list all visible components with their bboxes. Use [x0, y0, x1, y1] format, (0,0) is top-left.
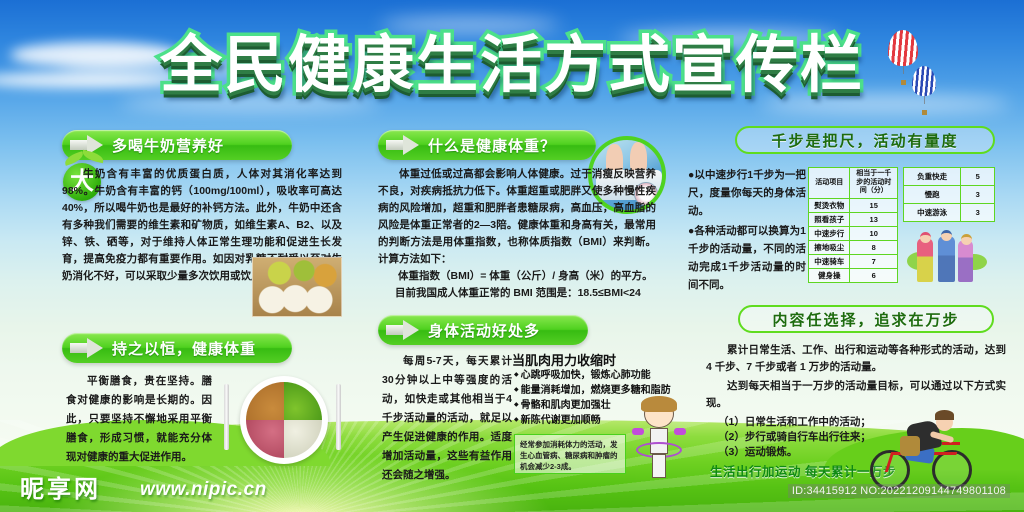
section-header-bmi-label: 什么是健康体重？ — [428, 135, 556, 156]
knife-icon — [336, 384, 341, 450]
arrow-icon — [70, 338, 104, 358]
muscle-contraction-title: 当肌肉用力收缩时 — [512, 350, 616, 369]
table-row: 慢跑 3 — [904, 186, 995, 204]
activity-body-text: 每周5-7天，每天累计30分钟以上中等强度的活动，如快走或其他相当于4千步活动量… — [382, 352, 512, 485]
section-header-bmi: 什么是健康体重？ — [378, 130, 596, 160]
activity-minutes: 3 — [961, 204, 995, 222]
food-meat — [246, 420, 284, 458]
section-header-ruler-label: 千步是把尺，活动有量度 — [771, 130, 958, 151]
table-row: 中速游泳 3 — [904, 204, 995, 222]
girl-exercise-cartoon — [630, 398, 688, 480]
activity-minutes: 3 — [961, 186, 995, 204]
fork-icon — [224, 384, 229, 450]
list-item: 心跳呼吸加快，锻炼心肺功能 — [514, 368, 684, 383]
table-header-row: 活动项目 相当于一千步的活动时间（分） — [809, 168, 898, 199]
walker-3 — [958, 240, 973, 282]
table-row: 照看孩子 13 — [809, 212, 898, 226]
section-header-tenthousand: 内容任选择，追求在万步 — [738, 305, 994, 333]
section-header-activity-label: 身体活动好处多 — [428, 320, 540, 341]
ruler-point-1: ●以中速步行1千步为一把尺，度量你每天的身体活动。 — [688, 166, 806, 220]
table-row: 负重快走 5 — [904, 168, 995, 186]
activity-name: 慢跑 — [904, 186, 961, 204]
table-row: 熨烫衣物 15 — [809, 198, 898, 212]
activity-minutes: 6 — [850, 268, 898, 282]
girl-legs — [652, 454, 666, 478]
ruler-point-2: ●各种活动都可以换算为1千步的活动量，不同的活动完成1千步活动量的时间不同。 — [688, 222, 806, 294]
cyclist-hair — [935, 410, 954, 420]
tenthousand-paragraph-1: 累计日常生活、工作、出行和运动等各种形式的活动，达到 4 千步、7 千步或者 1… — [706, 342, 1006, 376]
section-header-ruler: 千步是把尺，活动有量度 — [735, 126, 995, 154]
walker-1 — [917, 238, 933, 282]
bmi-range-text: 目前我国成人体重正常的 BMI 范围是：18.5≤BMI<24 — [395, 285, 663, 302]
table-row: 擦地吸尘 8 — [809, 240, 898, 254]
milk-glasses-photo — [252, 257, 342, 317]
poster-title-wrap: 全民健康生活方式宣传栏 — [0, 14, 1024, 104]
walking-people-cartoon — [905, 228, 991, 290]
walker-2 — [938, 236, 955, 282]
bmi-formula-text: 体重指数（BMI）= 体重（公斤）/ 身高（米）的平方。 — [398, 268, 660, 285]
table-row: 中速步行 10 — [809, 226, 898, 240]
activity-name: 健身操 — [809, 268, 850, 282]
main-activity-table: 活动项目 相当于一千步的活动时间（分） 熨烫衣物 15 照看孩子 13 中速步行… — [808, 167, 898, 283]
table-header-cell: 相当于一千步的活动时间（分） — [850, 168, 898, 199]
table-header-cell: 活动项目 — [809, 168, 850, 199]
walker-3-head — [961, 234, 972, 245]
activity-note-box: 经常参加消耗体力的活动，发生心血管病、糖尿病和肿瘤的机会减少2-3成。 — [514, 434, 626, 474]
table-row: 中速骑车 7 — [809, 254, 898, 268]
section-header-persist: 持之以恒，健康体重 — [62, 333, 292, 363]
activity-minutes: 15 — [850, 198, 898, 212]
dumbbell-left-icon — [632, 428, 644, 435]
plate-food-segments — [246, 382, 322, 458]
watermark-logo: 昵享网 — [20, 469, 101, 504]
food-vegetables — [284, 382, 322, 420]
girl-hair — [641, 396, 677, 412]
activity-minutes: 7 — [850, 254, 898, 268]
activity-name: 中速游泳 — [904, 204, 961, 222]
watermark-url: www.nipic.cn — [140, 479, 267, 501]
activity-name: 熨烫衣物 — [809, 198, 850, 212]
food-grains — [246, 382, 284, 420]
activity-name: 中速骑车 — [809, 254, 850, 268]
cyclist-bag — [900, 436, 920, 456]
food-dairy — [284, 420, 322, 458]
persist-body-text: 平衡膳食，贵在坚持。膳食对健康的影响是长期的。因此，只要坚持不懈地采用平衡膳食，… — [66, 372, 212, 467]
balanced-diet-plate-photo — [218, 368, 348, 468]
section-header-activity: 身体活动好处多 — [378, 315, 588, 345]
walker-2-head — [941, 230, 952, 241]
activity-minutes: 5 — [961, 168, 995, 186]
section-header-persist-label: 持之以恒，健康体重 — [112, 338, 256, 359]
activity-minutes: 13 — [850, 212, 898, 226]
secondary-activity-table: 负重快走 5 慢跑 3 中速游泳 3 — [903, 167, 995, 222]
arrow-icon — [386, 320, 420, 340]
table-row: 健身操 6 — [809, 268, 898, 282]
activity-minutes: 8 — [850, 240, 898, 254]
activity-name: 照看孩子 — [809, 212, 850, 226]
page-title: 全民健康生活方式宣传栏 — [152, 14, 872, 104]
image-id-tag: ID:34415912 NO:20221209144749801108 — [788, 484, 1010, 498]
bmi-body-text: 体重过低或过高都会影响人体健康。过于消瘦反映营养不良，对疾病抵抗力低下。体重超重… — [378, 166, 656, 268]
dumbbell-right-icon — [674, 428, 686, 435]
section-header-milk-label: 多喝牛奶营养好 — [112, 135, 224, 156]
activity-name: 负重快走 — [904, 168, 961, 186]
poster-canvas: 全民健康生活方式宣传栏 多喝牛奶营养好 大 牛奶含有丰富的优质蛋白质，人体对其消… — [0, 0, 1024, 512]
walker-1-head — [920, 232, 931, 243]
cyclist-cartoon — [868, 398, 978, 494]
section-header-tenthousand-label: 内容任选择，追求在万步 — [772, 309, 959, 330]
activity-name: 擦地吸尘 — [809, 240, 850, 254]
activity-name: 中速步行 — [809, 226, 850, 240]
activity-minutes: 10 — [850, 226, 898, 240]
arrow-icon — [386, 135, 420, 155]
